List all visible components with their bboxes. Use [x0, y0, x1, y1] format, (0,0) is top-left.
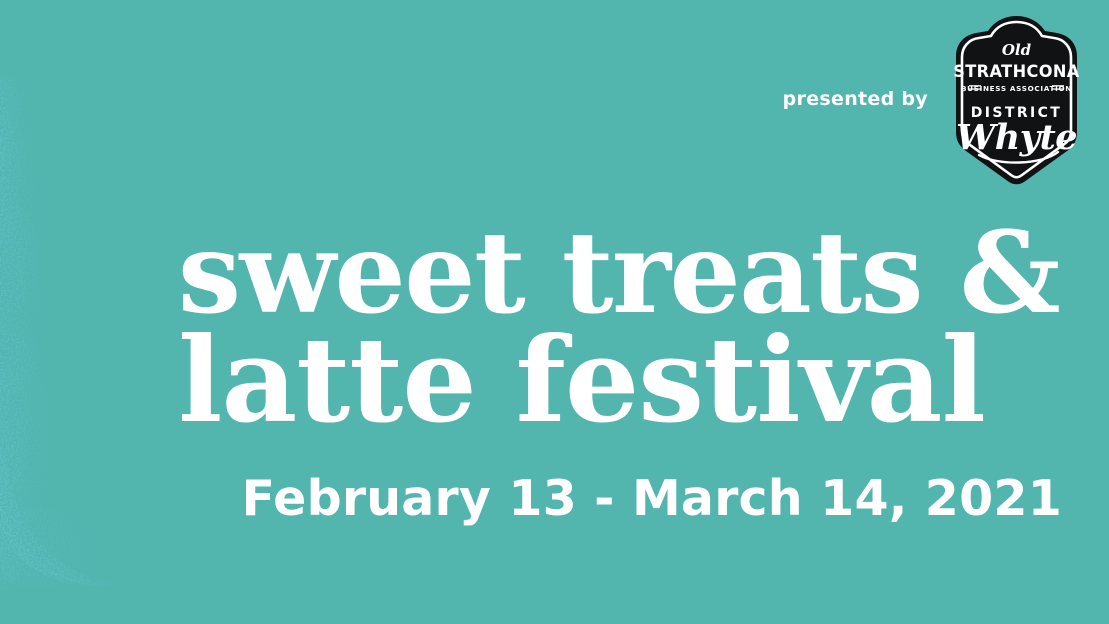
district-whyte-logo[interactable]: Old STRATHCONA BUSINESS ASSOCIATION DIST…	[946, 14, 1087, 188]
event-date-range: February 13 - March 14, 2021	[178, 470, 1062, 527]
headline-line-2: latte festival	[178, 326, 1078, 435]
poster-headline: sweet treats & latte festival	[178, 222, 1078, 435]
district-whyte-logo-svg: Old STRATHCONA BUSINESS ASSOCIATION DIST…	[946, 14, 1087, 188]
logo-primary-strathcona: STRATHCONA	[953, 62, 1079, 81]
logo-secondary-business-association: BUSINESS ASSOCIATION	[961, 84, 1072, 93]
event-poster: presented by Old STRATHCONA	[0, 0, 1109, 624]
presented-by-block: presented by Old STRATHCONA	[783, 14, 1087, 188]
presented-by-label: presented by	[783, 88, 928, 114]
logo-script-old: Old	[1002, 41, 1032, 59]
